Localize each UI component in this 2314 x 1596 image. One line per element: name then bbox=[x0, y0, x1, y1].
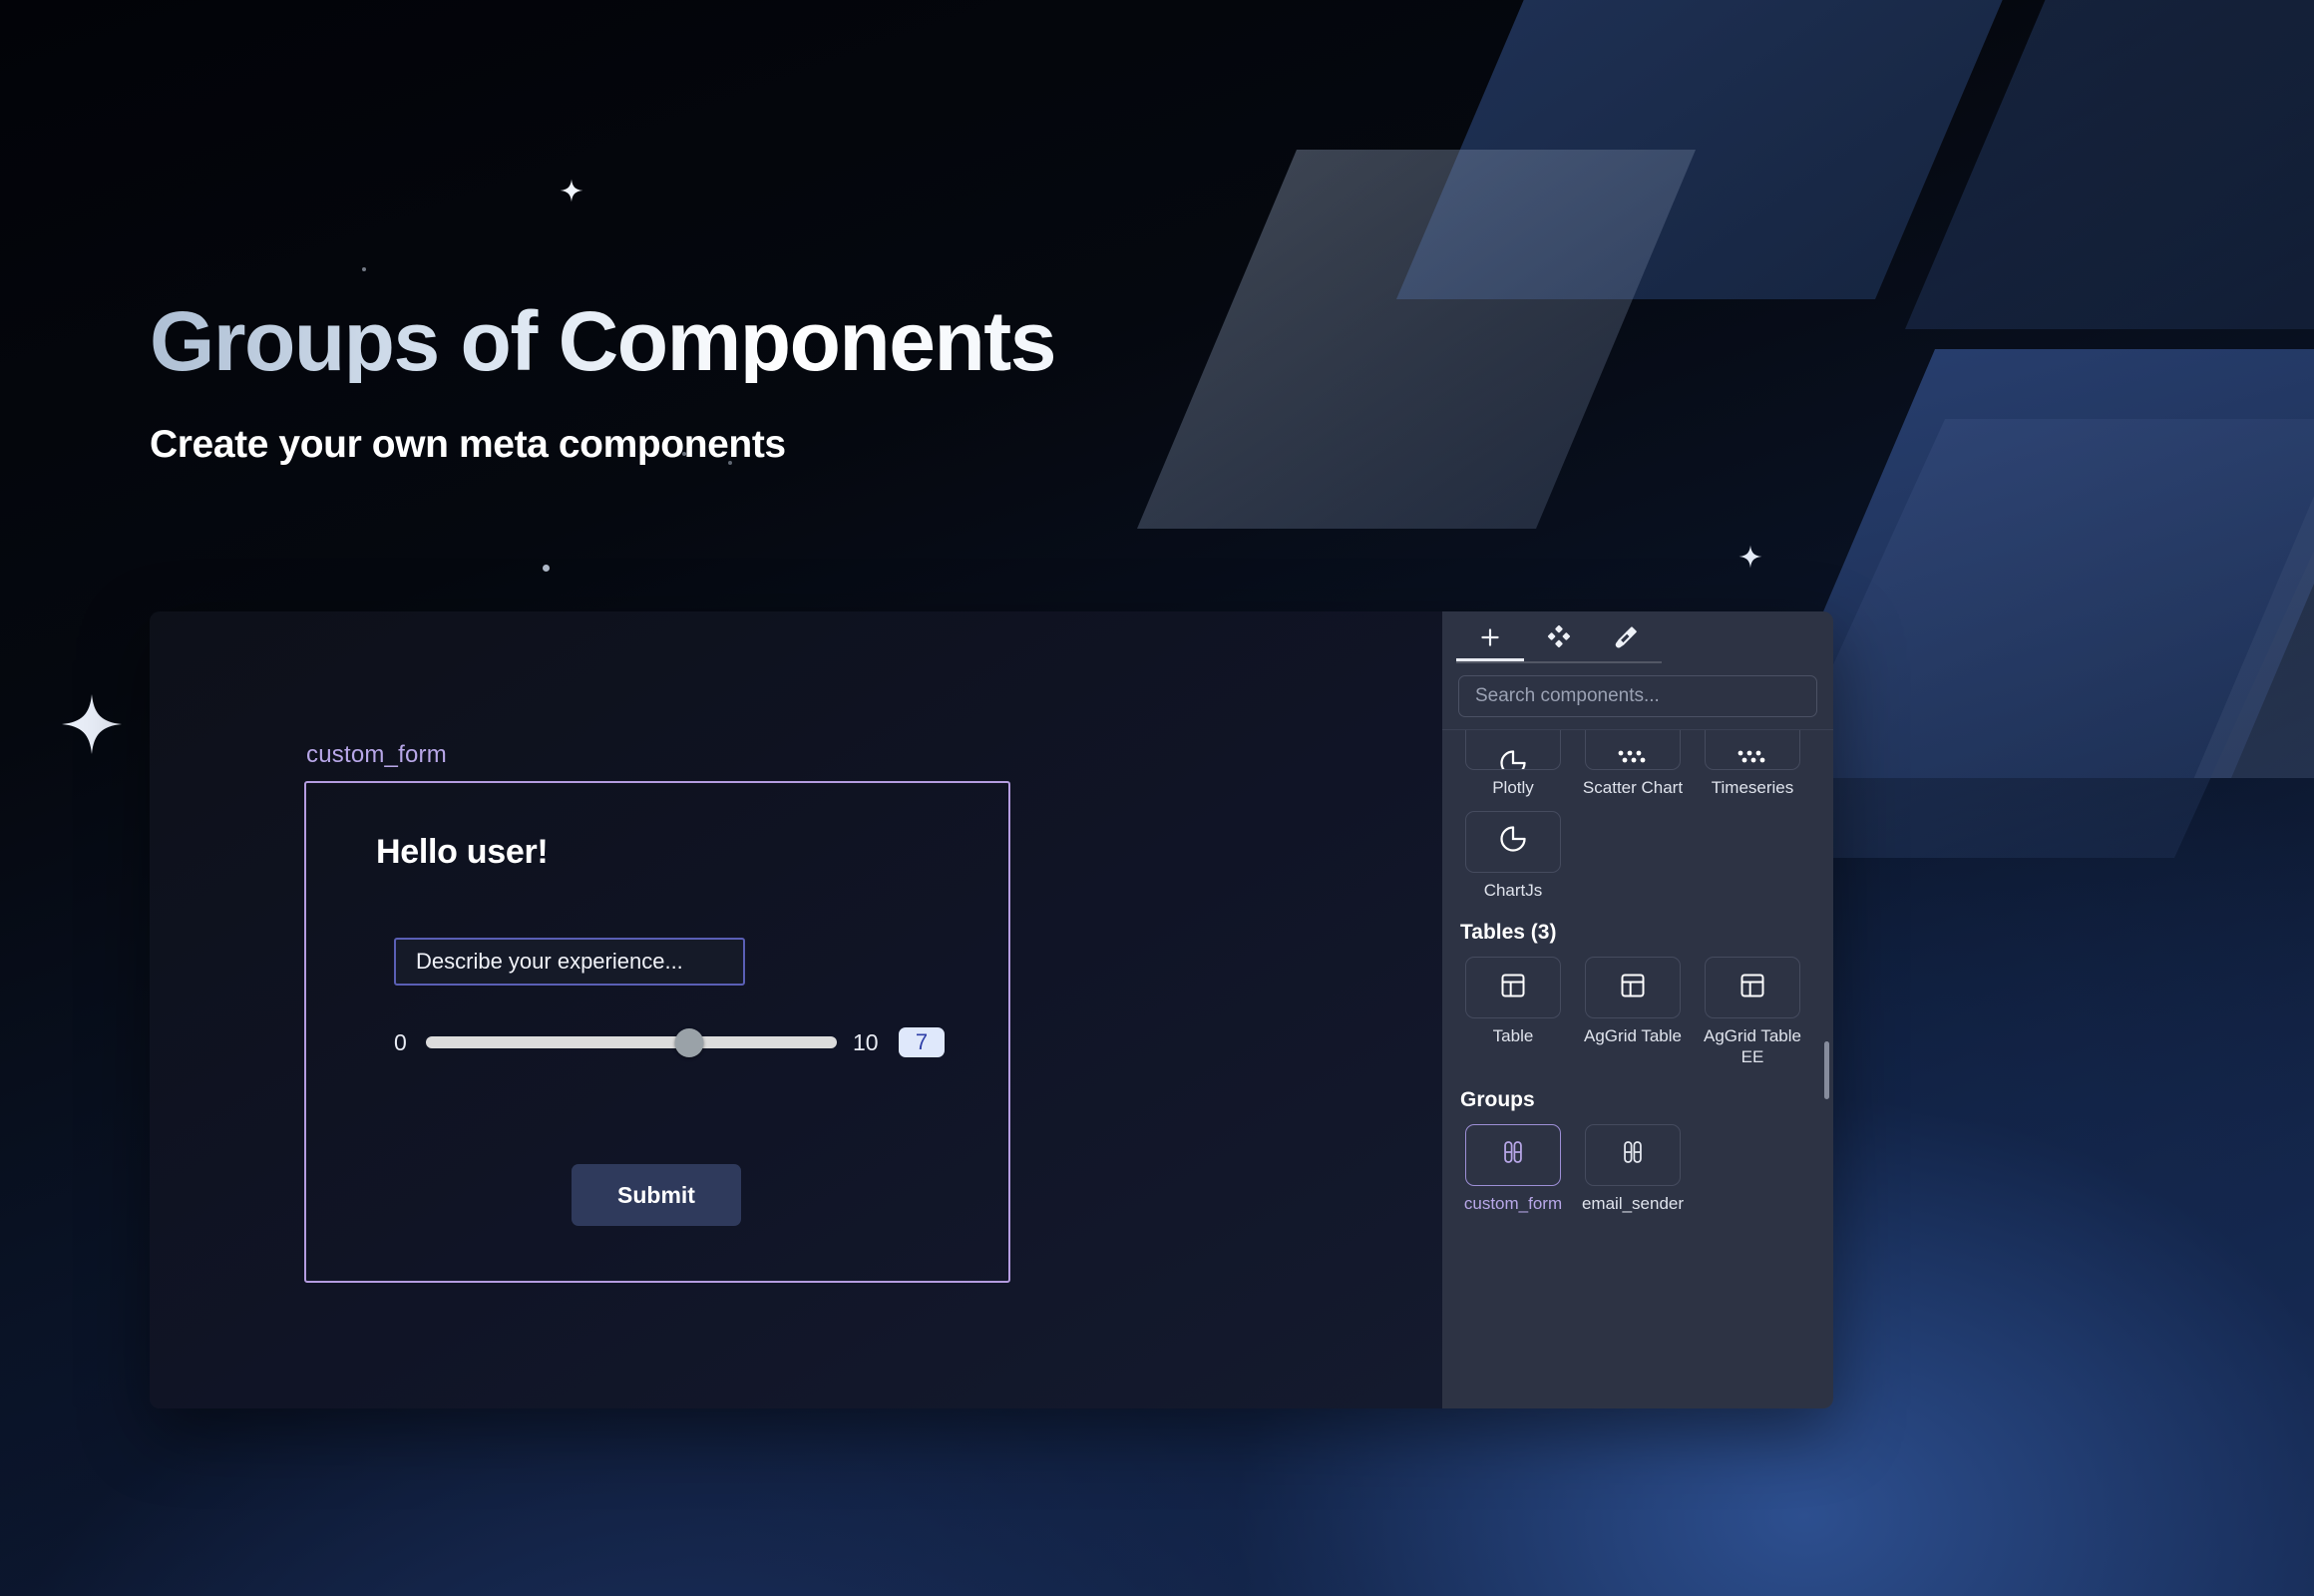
scatter-dots-icon bbox=[1616, 748, 1650, 769]
component-plotly[interactable]: Plotly bbox=[1458, 730, 1568, 799]
component-label: Table bbox=[1459, 1026, 1567, 1047]
component-icon-tile bbox=[1585, 1124, 1681, 1186]
tab-theme[interactable] bbox=[1592, 613, 1660, 661]
component-aggrid-table[interactable]: AgGrid Table bbox=[1578, 957, 1688, 1067]
pie-chart-icon bbox=[1498, 824, 1528, 859]
component-label: ChartJs bbox=[1459, 881, 1567, 902]
sparkle-icon bbox=[559, 178, 584, 203]
submit-button[interactable]: Submit bbox=[572, 1164, 741, 1226]
component-icon-tile bbox=[1705, 730, 1800, 770]
components-icon bbox=[1545, 624, 1571, 650]
tab-components[interactable] bbox=[1524, 613, 1592, 661]
slider-track-wrap[interactable] bbox=[426, 1031, 837, 1053]
tables-section-title: Tables (3) bbox=[1460, 921, 1817, 945]
component-sidebar: Plotly Scatter Chart bbox=[1442, 611, 1833, 1408]
experience-input[interactable]: Describe your experience... bbox=[394, 938, 745, 986]
decor-dot bbox=[543, 565, 550, 572]
slider-value-badge: 7 bbox=[899, 1027, 945, 1057]
page-subtitle: Create your own meta components bbox=[150, 423, 1055, 467]
component-icon-tile bbox=[1465, 1124, 1561, 1186]
plus-icon bbox=[1477, 624, 1503, 650]
slider-min-label: 0 bbox=[394, 1029, 422, 1056]
component-label: Scatter Chart bbox=[1579, 778, 1687, 799]
hello-heading: Hello user! bbox=[376, 833, 548, 872]
sidebar-tabbar bbox=[1442, 611, 1833, 663]
charts-grid-2: ChartJs bbox=[1458, 811, 1817, 902]
component-group-email-sender[interactable]: email_sender bbox=[1578, 1124, 1688, 1215]
sparkle-icon bbox=[58, 690, 126, 758]
rating-slider[interactable]: 0 10 7 bbox=[394, 1027, 953, 1057]
slider-track[interactable] bbox=[426, 1036, 837, 1048]
component-icon-tile bbox=[1465, 957, 1561, 1018]
groups-grid: custom_form bbox=[1458, 1124, 1817, 1215]
component-table[interactable]: Table bbox=[1458, 957, 1568, 1067]
component-icon-tile bbox=[1585, 957, 1681, 1018]
search-input[interactable] bbox=[1475, 685, 1800, 707]
slider-max-label: 10 bbox=[853, 1029, 887, 1056]
component-chartjs[interactable]: ChartJs bbox=[1458, 811, 1568, 902]
group-boundary[interactable]: Hello user! Describe your experience... … bbox=[304, 781, 1010, 1283]
component-group-custom-form[interactable]: custom_form bbox=[1458, 1124, 1568, 1215]
sidebar-scrollbar-thumb[interactable] bbox=[1824, 1041, 1829, 1099]
slider-thumb[interactable] bbox=[674, 1028, 703, 1057]
page-background: Groups of Components Create your own met… bbox=[0, 0, 2314, 1596]
component-label: AgGrid Table EE bbox=[1699, 1026, 1806, 1067]
component-label: Timeseries bbox=[1699, 778, 1806, 799]
component-icon-tile bbox=[1465, 811, 1561, 873]
tab-add[interactable] bbox=[1456, 613, 1524, 661]
table-icon bbox=[1499, 972, 1527, 1004]
component-timeseries[interactable]: Timeseries bbox=[1698, 730, 1807, 799]
table-icon bbox=[1619, 972, 1647, 1004]
component-icon-tile bbox=[1585, 730, 1681, 770]
groups-section-title: Groups bbox=[1460, 1088, 1817, 1112]
table-icon bbox=[1738, 972, 1766, 1004]
canvas-area[interactable]: custom_form Hello user! Describe your ex… bbox=[150, 611, 1442, 1408]
component-label: custom_form bbox=[1459, 1194, 1567, 1215]
component-scatter-chart[interactable]: Scatter Chart bbox=[1578, 730, 1688, 799]
hero-text: Groups of Components Create your own met… bbox=[150, 299, 1055, 467]
decor-dot bbox=[362, 267, 366, 271]
component-label: email_sender bbox=[1579, 1194, 1687, 1215]
pie-chart-icon bbox=[1498, 748, 1528, 769]
scatter-dots-icon bbox=[1735, 748, 1769, 769]
sidebar-scroll-area[interactable]: Plotly Scatter Chart bbox=[1442, 729, 1833, 1408]
paintbrush-icon bbox=[1613, 624, 1639, 650]
sparkle-icon bbox=[1737, 544, 1763, 570]
group-name-label: custom_form bbox=[304, 741, 1010, 769]
component-label: AgGrid Table bbox=[1579, 1026, 1687, 1047]
group-icon bbox=[1499, 1138, 1527, 1171]
group-widget[interactable]: custom_form Hello user! Describe your ex… bbox=[304, 741, 1010, 1283]
component-label: Plotly bbox=[1459, 778, 1567, 799]
group-icon bbox=[1619, 1138, 1647, 1171]
component-aggrid-table-ee[interactable]: AgGrid Table EE bbox=[1698, 957, 1807, 1067]
component-icon-tile bbox=[1705, 957, 1800, 1018]
search-components-box[interactable] bbox=[1458, 675, 1817, 717]
app-window: custom_form Hello user! Describe your ex… bbox=[150, 611, 1833, 1408]
charts-grid: Plotly Scatter Chart bbox=[1458, 730, 1817, 799]
component-icon-tile bbox=[1465, 730, 1561, 770]
page-title: Groups of Components bbox=[150, 299, 1055, 383]
tables-grid: Table AgGrid Table bbox=[1458, 957, 1817, 1067]
